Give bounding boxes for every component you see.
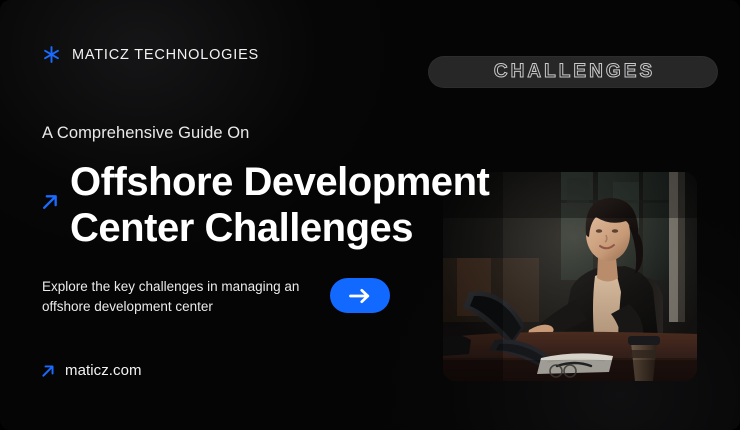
brand-lockup: MATICZ TECHNOLOGIES (42, 45, 259, 64)
arrow-up-right-icon (40, 363, 56, 379)
brand-name: MATICZ TECHNOLOGIES (72, 47, 259, 63)
sparkle-asterisk-icon (42, 45, 61, 64)
arrow-right-icon (347, 287, 373, 305)
cta-arrow-button[interactable] (330, 278, 390, 313)
arrow-up-right-icon (40, 176, 60, 196)
badge-label: CHALLENGES (491, 61, 655, 83)
headline-group: Offshore Development Center Challenges (40, 160, 540, 251)
status-badge: CHALLENGES (428, 56, 718, 88)
website-link[interactable]: maticz.com (40, 362, 142, 379)
subheadline-text: Explore the key challenges in managing a… (42, 277, 322, 316)
promo-banner: MATICZ TECHNOLOGIES CHALLENGES A Compreh… (0, 0, 740, 430)
website-link-label: maticz.com (65, 362, 142, 379)
page-title: Offshore Development Center Challenges (70, 160, 540, 251)
eyebrow-text: A Comprehensive Guide On (42, 124, 249, 143)
